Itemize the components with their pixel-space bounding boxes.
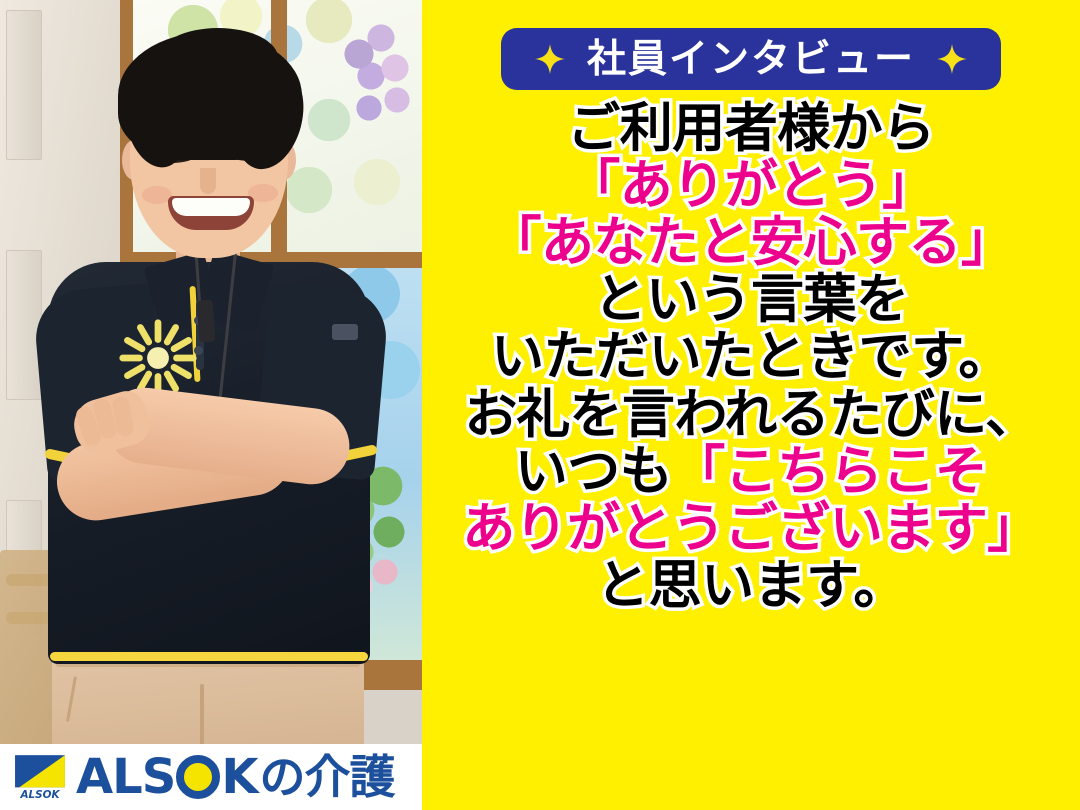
teeth [172, 198, 250, 216]
quote-line-8: ありがとうございます」 [462, 500, 1040, 557]
quote-line-9: と思います。 [596, 557, 906, 614]
person-photo [0, 0, 422, 810]
shirt-hem-piping [50, 652, 368, 661]
quote-line-2: 「ありがとう」 [567, 157, 935, 214]
quote-line-7-magenta: 「こちらこそ [672, 444, 987, 499]
quote-block: ご利用者様から 「ありがとう」 「あなたと安心する」 という言葉を いただいたと… [422, 100, 1080, 614]
brand-logo-bar: ALSOK ALS K の介護 [0, 744, 422, 810]
brand-latin-prefix: ALS [76, 753, 175, 801]
quote-line-5: いただいたときです。 [491, 328, 1011, 385]
quote-line-1: ご利用者様から [567, 100, 935, 157]
quote-line-6: お礼を言われるたびに、 [464, 386, 1037, 443]
svg-text:ALSOK: ALSOK [19, 789, 60, 800]
quote-line-4: という言葉を [594, 271, 909, 328]
sparkle-icon [535, 44, 565, 74]
nose [200, 168, 216, 194]
quote-line-3: 「あなたと安心する」 [489, 214, 1014, 271]
brand-japanese-suffix: の介護 [260, 754, 395, 800]
earphone-control-box [197, 299, 216, 342]
brand-latin-suffix: K [221, 753, 257, 801]
sleeve-logo [332, 324, 358, 340]
smiling-mouth [168, 196, 254, 230]
photo-panel: ALSOK ALS K の介護 [0, 0, 422, 810]
poster-root: ALSOK ALS K の介護 社員インタビュー [0, 0, 1080, 810]
badge-label: 社員インタビュー [587, 40, 915, 79]
quote-line-7-black: いつも [515, 444, 673, 499]
sparkle-icon [937, 44, 967, 74]
section-badge: 社員インタビュー [501, 28, 1001, 90]
content-panel: 社員インタビュー ご利用者様から 「ありがとう」 「あなたと安心する」 という言… [422, 0, 1080, 810]
brand-wordmark: ALS K の介護 [76, 753, 395, 801]
quote-line-7: いつも「こちらこそ [515, 443, 988, 500]
alsok-logo-mark-icon: ALSOK [14, 754, 66, 800]
chest-emblem-icon [116, 316, 200, 400]
alsok-o-icon [176, 755, 220, 799]
